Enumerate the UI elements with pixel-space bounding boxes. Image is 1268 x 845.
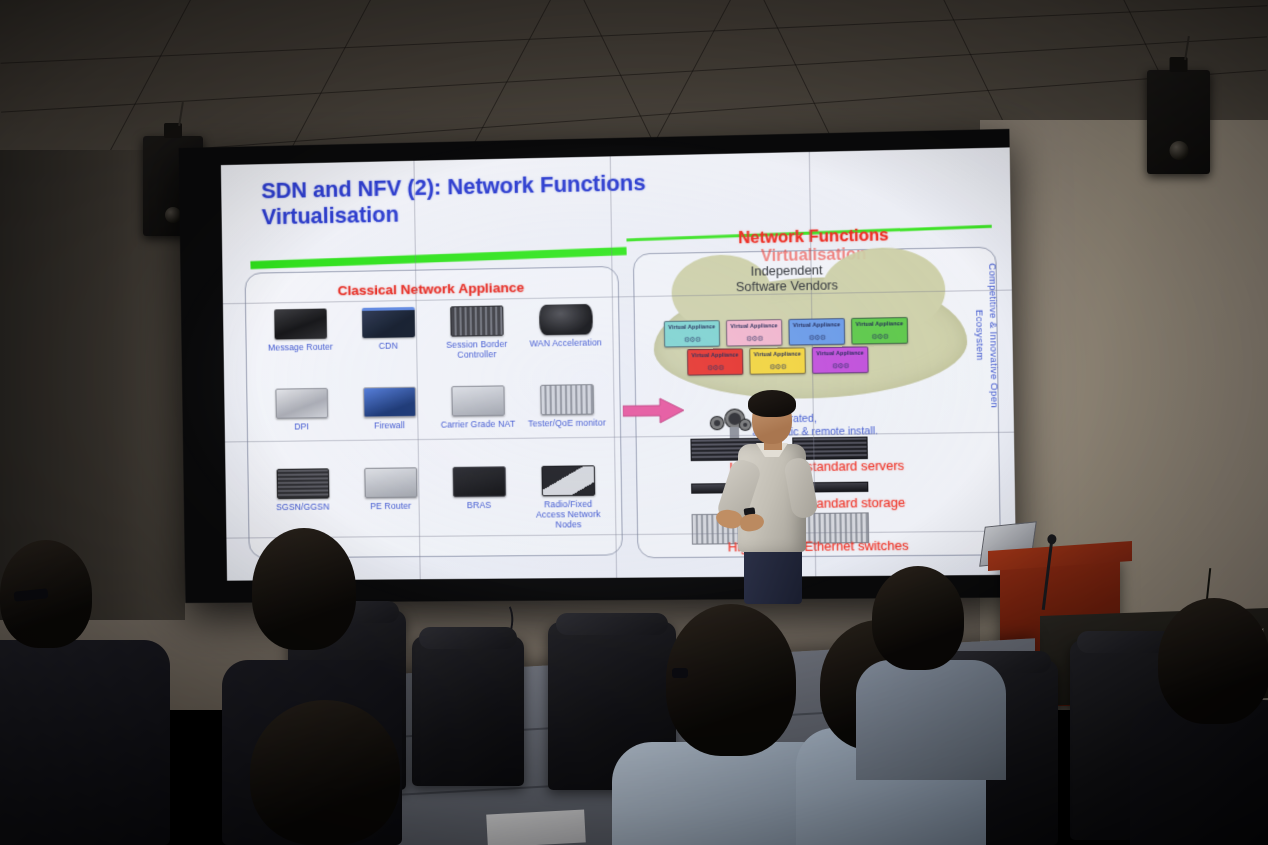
- network-device: Tester/QoE monitor: [522, 382, 613, 464]
- device-image: [540, 384, 594, 415]
- network-device: Session Border Controller: [432, 303, 522, 385]
- device-image: [274, 309, 327, 340]
- gear-icon: ⚙⚙⚙: [852, 332, 907, 341]
- device-image: [450, 305, 503, 336]
- network-device: Radio/Fixed Access Network Nodes: [523, 463, 614, 544]
- device-label: Tester/QoE monitor: [528, 418, 606, 429]
- presenter: [718, 388, 828, 603]
- device-image: [276, 468, 329, 499]
- virtual-appliance-box: Virtual Appliance⚙⚙⚙: [664, 320, 720, 347]
- device-image: [275, 388, 328, 419]
- conference-room-scene: SDN and NFV (2): Network Functions Virtu…: [0, 0, 1268, 845]
- virtual-appliance-label: Virtual Appliance: [813, 350, 868, 357]
- virtual-appliance-row-bottom: Virtual Appliance⚙⚙⚙Virtual Appliance⚙⚙⚙…: [687, 346, 869, 375]
- device-grid: Message RouterCDNSession Border Controll…: [256, 302, 613, 547]
- gear-icon: ⚙⚙⚙: [665, 335, 719, 344]
- slide-surface: SDN and NFV (2): Network Functions Virtu…: [221, 147, 1016, 580]
- virtual-appliance-label: Virtual Appliance: [688, 352, 742, 359]
- device-image: [541, 465, 595, 496]
- gear-icon: ⚙⚙⚙: [790, 333, 844, 342]
- gear-icon: ⚙⚙⚙: [751, 363, 805, 372]
- device-image: [363, 387, 416, 418]
- network-device: Carrier Grade NAT: [433, 383, 523, 464]
- device-label: SGSN/GGSN: [265, 501, 342, 512]
- gear-icon: ⚙⚙⚙: [813, 362, 868, 371]
- network-device: CDN: [344, 305, 433, 386]
- device-label: Session Border Controller: [438, 339, 516, 361]
- slide-title: SDN and NFV (2): Network Functions Virtu…: [261, 166, 836, 231]
- network-device: PE Router: [346, 465, 435, 546]
- virtual-appliance-label: Virtual Appliance: [750, 351, 804, 358]
- virtual-appliance-label: Virtual Appliance: [789, 322, 843, 329]
- transition-arrow-icon: [623, 397, 685, 424]
- network-device: WAN Acceleration: [521, 302, 611, 384]
- network-device: Message Router: [256, 306, 345, 387]
- gear-icon: ⚙⚙⚙: [688, 364, 742, 373]
- virtual-appliance-box: Virtual Appliance⚙⚙⚙: [749, 347, 806, 374]
- virtual-appliance-box: Virtual Appliance⚙⚙⚙: [812, 346, 869, 373]
- device-label: Carrier Grade NAT: [439, 419, 517, 430]
- isv-label: Independent Software Vendors: [688, 262, 887, 296]
- virtual-appliance-label: Virtual Appliance: [852, 321, 907, 328]
- network-device: DPI: [257, 386, 346, 467]
- virtual-appliance-label: Virtual Appliance: [727, 323, 781, 330]
- classical-appliance-panel: Classical Network Appliance Message Rout…: [245, 266, 623, 559]
- eyeglasses-icon: [672, 668, 688, 678]
- device-image: [451, 386, 504, 417]
- virtual-appliance-label: Virtual Appliance: [665, 324, 719, 331]
- device-label: BRAS: [440, 499, 518, 510]
- device-image: [364, 467, 417, 498]
- device-label: Message Router: [262, 341, 339, 352]
- speaker-icon: [1147, 70, 1210, 174]
- paper-sheet: [486, 809, 586, 845]
- virtual-appliance-box: Virtual Appliance⚙⚙⚙: [687, 348, 743, 375]
- empty-chair[interactable]: [412, 636, 524, 786]
- device-label: Radio/Fixed Access Network Nodes: [529, 498, 607, 530]
- virtual-appliance-box: Virtual Appliance⚙⚙⚙: [788, 318, 845, 345]
- network-device: BRAS: [434, 464, 524, 545]
- virtual-appliance-box: Virtual Appliance⚙⚙⚙: [851, 317, 908, 345]
- device-image: [539, 304, 593, 335]
- device-label: WAN Acceleration: [527, 337, 605, 349]
- gear-icon: ⚙⚙⚙: [727, 334, 781, 343]
- device-image: [452, 466, 505, 497]
- virtual-appliance-row-top: Virtual Appliance⚙⚙⚙Virtual Appliance⚙⚙⚙…: [664, 317, 908, 347]
- virtual-appliance-box: Virtual Appliance⚙⚙⚙: [726, 319, 783, 346]
- ecosystem-vertical-label: Competitive & Innovative Open Ecosystem: [970, 258, 1000, 413]
- device-label: DPI: [263, 421, 340, 432]
- device-image: [361, 307, 414, 338]
- network-device: Firewall: [345, 385, 434, 466]
